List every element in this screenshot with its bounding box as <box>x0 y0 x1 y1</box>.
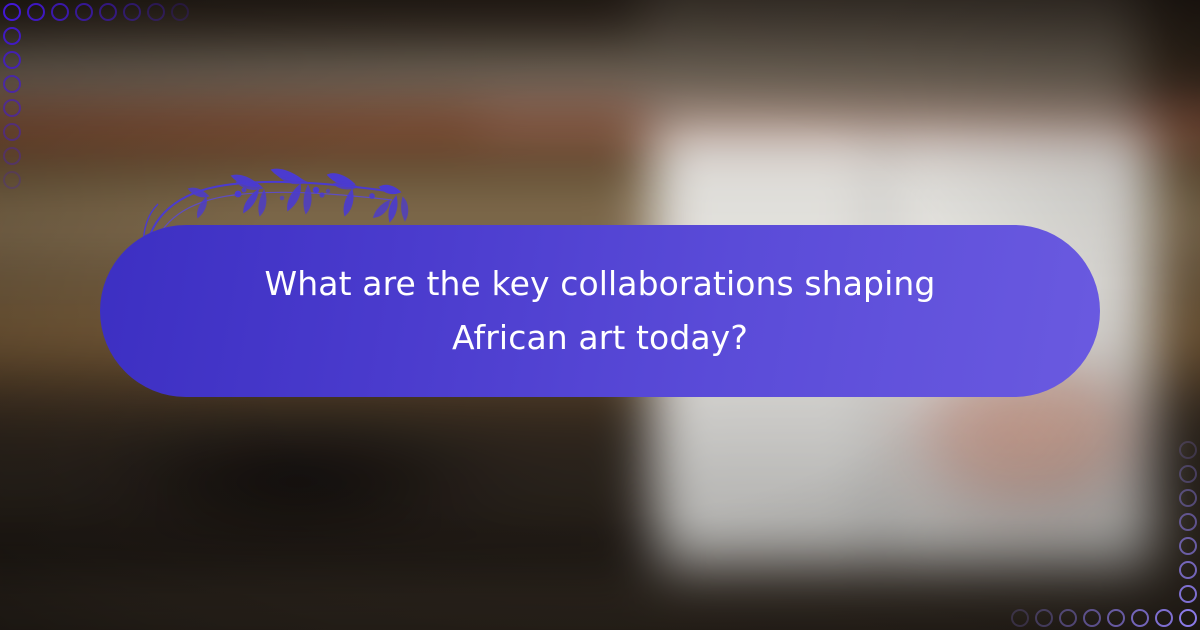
decorative-circle <box>1179 537 1197 555</box>
decorative-circle <box>3 75 21 93</box>
decorative-circle <box>1155 609 1173 627</box>
decorative-circle <box>3 147 21 165</box>
decorative-circle <box>75 3 93 21</box>
decorative-circle <box>1035 609 1053 627</box>
decorative-circle <box>171 3 189 21</box>
decorative-circle <box>1131 609 1149 627</box>
share-card-canvas: What are the key collaborations shaping … <box>0 0 1200 630</box>
decorative-circle <box>3 123 21 141</box>
decorative-circle <box>3 99 21 117</box>
decorative-circle <box>1107 609 1125 627</box>
decorative-circle <box>1011 609 1029 627</box>
question-banner: What are the key collaborations shaping … <box>100 225 1100 397</box>
decorative-circle <box>1179 465 1197 483</box>
decorative-circle <box>51 3 69 21</box>
decorative-circle <box>1083 609 1101 627</box>
decorative-circle <box>3 171 21 189</box>
decorative-circle <box>1179 585 1197 603</box>
decorative-circle <box>1179 441 1197 459</box>
decorative-circle <box>99 3 117 21</box>
page-title: What are the key collaborations shaping … <box>220 257 980 365</box>
decorative-circle <box>1179 513 1197 531</box>
decorative-circle <box>1179 561 1197 579</box>
decorative-circle <box>1179 609 1197 627</box>
decorative-circle <box>3 27 21 45</box>
decorative-circle <box>1059 609 1077 627</box>
decorative-circle <box>27 3 45 21</box>
decorative-circle <box>123 3 141 21</box>
decorative-circle <box>147 3 165 21</box>
decorative-circle <box>1179 489 1197 507</box>
decorative-circle <box>3 51 21 69</box>
decorative-circle <box>3 3 21 21</box>
